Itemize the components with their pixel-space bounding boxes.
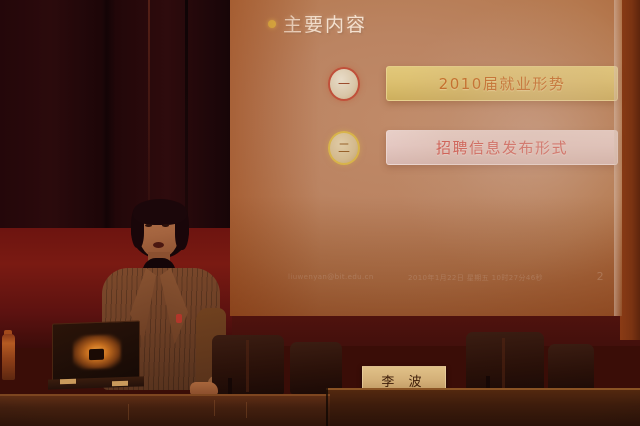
laptop-screen-core bbox=[89, 349, 104, 361]
chair-gap bbox=[246, 340, 249, 392]
presenter-mouth bbox=[153, 242, 164, 248]
clip-microphone-icon bbox=[176, 314, 182, 323]
foreground-table-right bbox=[326, 388, 640, 426]
table-scratch bbox=[128, 404, 129, 420]
water-bottle bbox=[2, 334, 15, 380]
table-seam bbox=[326, 388, 328, 426]
laptop-highlight-left bbox=[60, 379, 76, 385]
footer-email: liuwenyan@bit.edu.cn bbox=[288, 273, 374, 281]
footer-datetime: 2010年1月22日 星期五 10时27分46秒 bbox=[408, 273, 543, 283]
item-marker-one: 一 bbox=[328, 67, 360, 101]
slide-page-number: 2 bbox=[597, 270, 604, 283]
laptop bbox=[52, 320, 140, 383]
screen-shade-bottom bbox=[230, 196, 622, 316]
chair bbox=[466, 332, 544, 394]
presenter-hair-front bbox=[133, 199, 187, 225]
chair bbox=[290, 342, 342, 394]
table-scratch bbox=[246, 402, 247, 418]
slide-footer: liuwenyan@bit.edu.cn 2010年1月22日 星期五 10时2… bbox=[230, 272, 622, 288]
screen-shade-left bbox=[230, 0, 320, 316]
slide-item-1: 一 2010届就业形势 bbox=[328, 66, 618, 101]
bullet-dot-icon bbox=[268, 20, 276, 28]
slide-title-text: 主要内容 bbox=[283, 10, 367, 37]
slide-title: 主要内容 bbox=[268, 10, 367, 37]
laptop-highlight-right bbox=[112, 381, 128, 387]
item-marker-two: 二 bbox=[328, 131, 360, 165]
presenter-eye-right bbox=[162, 224, 169, 227]
wall-strip-right bbox=[620, 0, 640, 340]
foreground-table-left bbox=[0, 394, 330, 426]
slide-item-2: 二 招聘信息发布形式 bbox=[328, 130, 618, 165]
chair bbox=[548, 344, 594, 394]
item-text-box-2: 招聘信息发布形式 bbox=[386, 130, 618, 165]
lecture-hall-photo: 主要内容 一 2010届就业形势 二 招聘信息发布形式 liuwenyan@bi… bbox=[0, 0, 640, 426]
presenter-eye-left bbox=[145, 224, 152, 227]
table-scratch bbox=[214, 400, 215, 416]
nameplate-text: 李 波 bbox=[381, 371, 426, 390]
chair-gap bbox=[502, 338, 505, 392]
item-text-box-1: 2010届就业形势 bbox=[386, 66, 618, 101]
projection-screen: 主要内容 一 2010届就业形势 二 招聘信息发布形式 liuwenyan@bi… bbox=[230, 0, 622, 316]
